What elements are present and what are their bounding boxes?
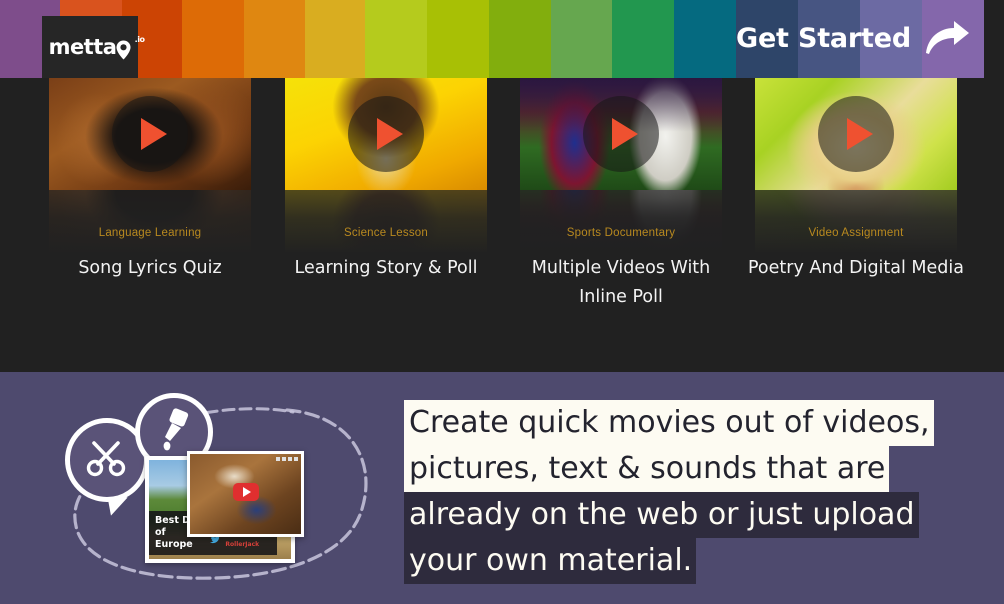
curved-arrow-icon: [924, 20, 970, 56]
thumbnail-reflection: [285, 190, 487, 252]
card-title: Multiple Videos With Inline Poll: [508, 254, 734, 312]
glue-bottle-icon: [154, 408, 194, 457]
color-stripe-6: [365, 0, 427, 78]
card-thumbnail[interactable]: [285, 78, 487, 190]
thumbnail-reflection: [520, 190, 722, 252]
promo-section: Best Downhill places of Europe via Rolle…: [0, 372, 1004, 604]
location-pin-icon: [116, 41, 131, 56]
card-title: Song Lyrics Quiz: [37, 254, 263, 283]
logo-name: metta: [49, 35, 117, 59]
headline-line: pictures, text & sounds that are: [404, 446, 889, 492]
thumbnail-reflection: [49, 190, 251, 252]
card-category: Video Assignment: [755, 227, 957, 239]
scissors-icon: [85, 436, 129, 485]
card-thumbnail[interactable]: [49, 78, 251, 190]
video-thumbnail[interactable]: [187, 451, 304, 537]
headline-line: already on the web or just upload: [404, 492, 919, 538]
color-stripe-8: [489, 0, 551, 78]
get-started-button[interactable]: Get Started: [736, 20, 970, 56]
logo-text: metta.io: [49, 37, 132, 58]
color-stripe-5: [305, 0, 365, 78]
promo-illustration: Best Downhill places of Europe via Rolle…: [55, 390, 395, 590]
thumbnail-reflection: [755, 190, 957, 252]
play-icon[interactable]: [583, 96, 659, 172]
card-thumbnail[interactable]: [520, 78, 722, 190]
card-category: Science Lesson: [285, 227, 487, 239]
logo[interactable]: metta.io: [42, 16, 138, 78]
youtube-play-icon[interactable]: [233, 483, 259, 501]
card-title: Learning Story & Poll: [273, 254, 499, 283]
color-stripe-11: [674, 0, 736, 78]
video-card[interactable]: Video AssignmentPoetry And Digital Media: [755, 78, 957, 252]
card-thumbnail[interactable]: [755, 78, 957, 190]
color-stripe-10: [612, 0, 674, 78]
video-controls-icons: [276, 457, 298, 461]
play-icon[interactable]: [112, 96, 188, 172]
headline-line: your own material.: [404, 538, 696, 584]
play-icon[interactable]: [348, 96, 424, 172]
headline-line: Create quick movies out of videos,: [404, 400, 934, 446]
video-card[interactable]: Science LessonLearning Story & Poll: [285, 78, 487, 252]
video-card[interactable]: Sports DocumentaryMultiple Videos With I…: [520, 78, 722, 252]
play-icon[interactable]: [818, 96, 894, 172]
featured-cards-strip: Language LearningSong Lyrics QuizScience…: [0, 78, 1004, 372]
color-stripe-7: [427, 0, 489, 78]
get-started-label: Get Started: [736, 23, 911, 54]
color-stripe-3: [182, 0, 244, 78]
promo-headline: Create quick movies out of videos,pictur…: [404, 400, 964, 584]
video-card[interactable]: Language LearningSong Lyrics Quiz: [49, 78, 251, 252]
color-stripe-4: [244, 0, 305, 78]
logo-suffix: .io: [135, 36, 145, 44]
card-title: Poetry And Digital Media: [743, 254, 969, 283]
color-stripe-9: [551, 0, 612, 78]
card-category: Language Learning: [49, 227, 251, 239]
card-category: Sports Documentary: [520, 227, 722, 239]
